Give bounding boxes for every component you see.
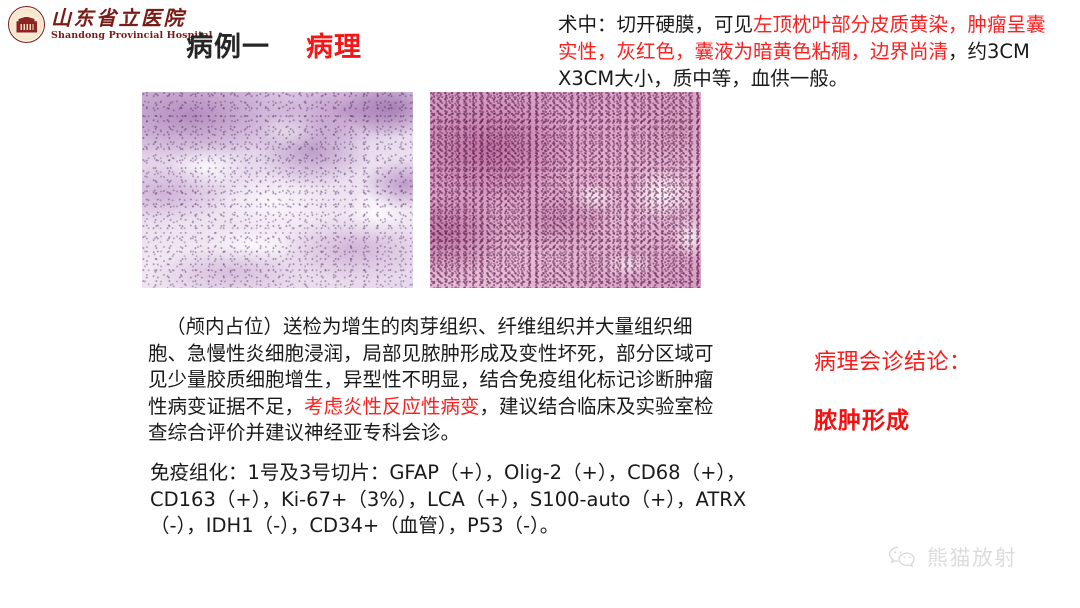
histology-slide-1 [142,92,413,288]
hospital-logo: 山东省立医院 Shandong Provincial Hospital [8,6,213,43]
watermark: 熊猫放射 [888,542,1017,572]
page-title-main: 病例一 [186,25,270,64]
histology-image-row [142,92,701,288]
report-seg-1: 考虑炎性反应性病变 [304,395,480,418]
immunohistochemistry-text: 免疫组化：1号及3号切片：GFAP（+），Olig-2（+），CD68（+），C… [150,460,770,540]
pathology-conclusion: 病理会诊结论： 脓肿形成 [814,344,1064,435]
conclusion-value: 脓肿形成 [814,401,1064,435]
wechat-icon [888,545,918,569]
histology-slide-2 [430,92,701,288]
opnote-seg-0: 术中：切开硬膜，可见 [558,13,753,36]
page-title: 病例一 病理 [186,25,362,64]
hospital-seal-icon [8,6,45,43]
watermark-text: 熊猫放射 [927,542,1017,572]
operative-note-text: 术中：切开硬膜，可见左顶枕叶部分皮质黄染，肿瘤呈囊实性，灰红色，囊液为暗黄色粘稠… [558,11,1058,92]
conclusion-label: 病理会诊结论： [814,344,1064,376]
page-title-accent: 病理 [306,25,362,64]
slide-canvas: 山东省立医院 Shandong Provincial Hospital 病例一 … [0,0,1080,608]
pathology-report-text: （颅内占位）送检为增生的肉芽组织、纤维组织并大量组织细胞、急慢性炎细胞浸润，局部… [148,314,720,447]
